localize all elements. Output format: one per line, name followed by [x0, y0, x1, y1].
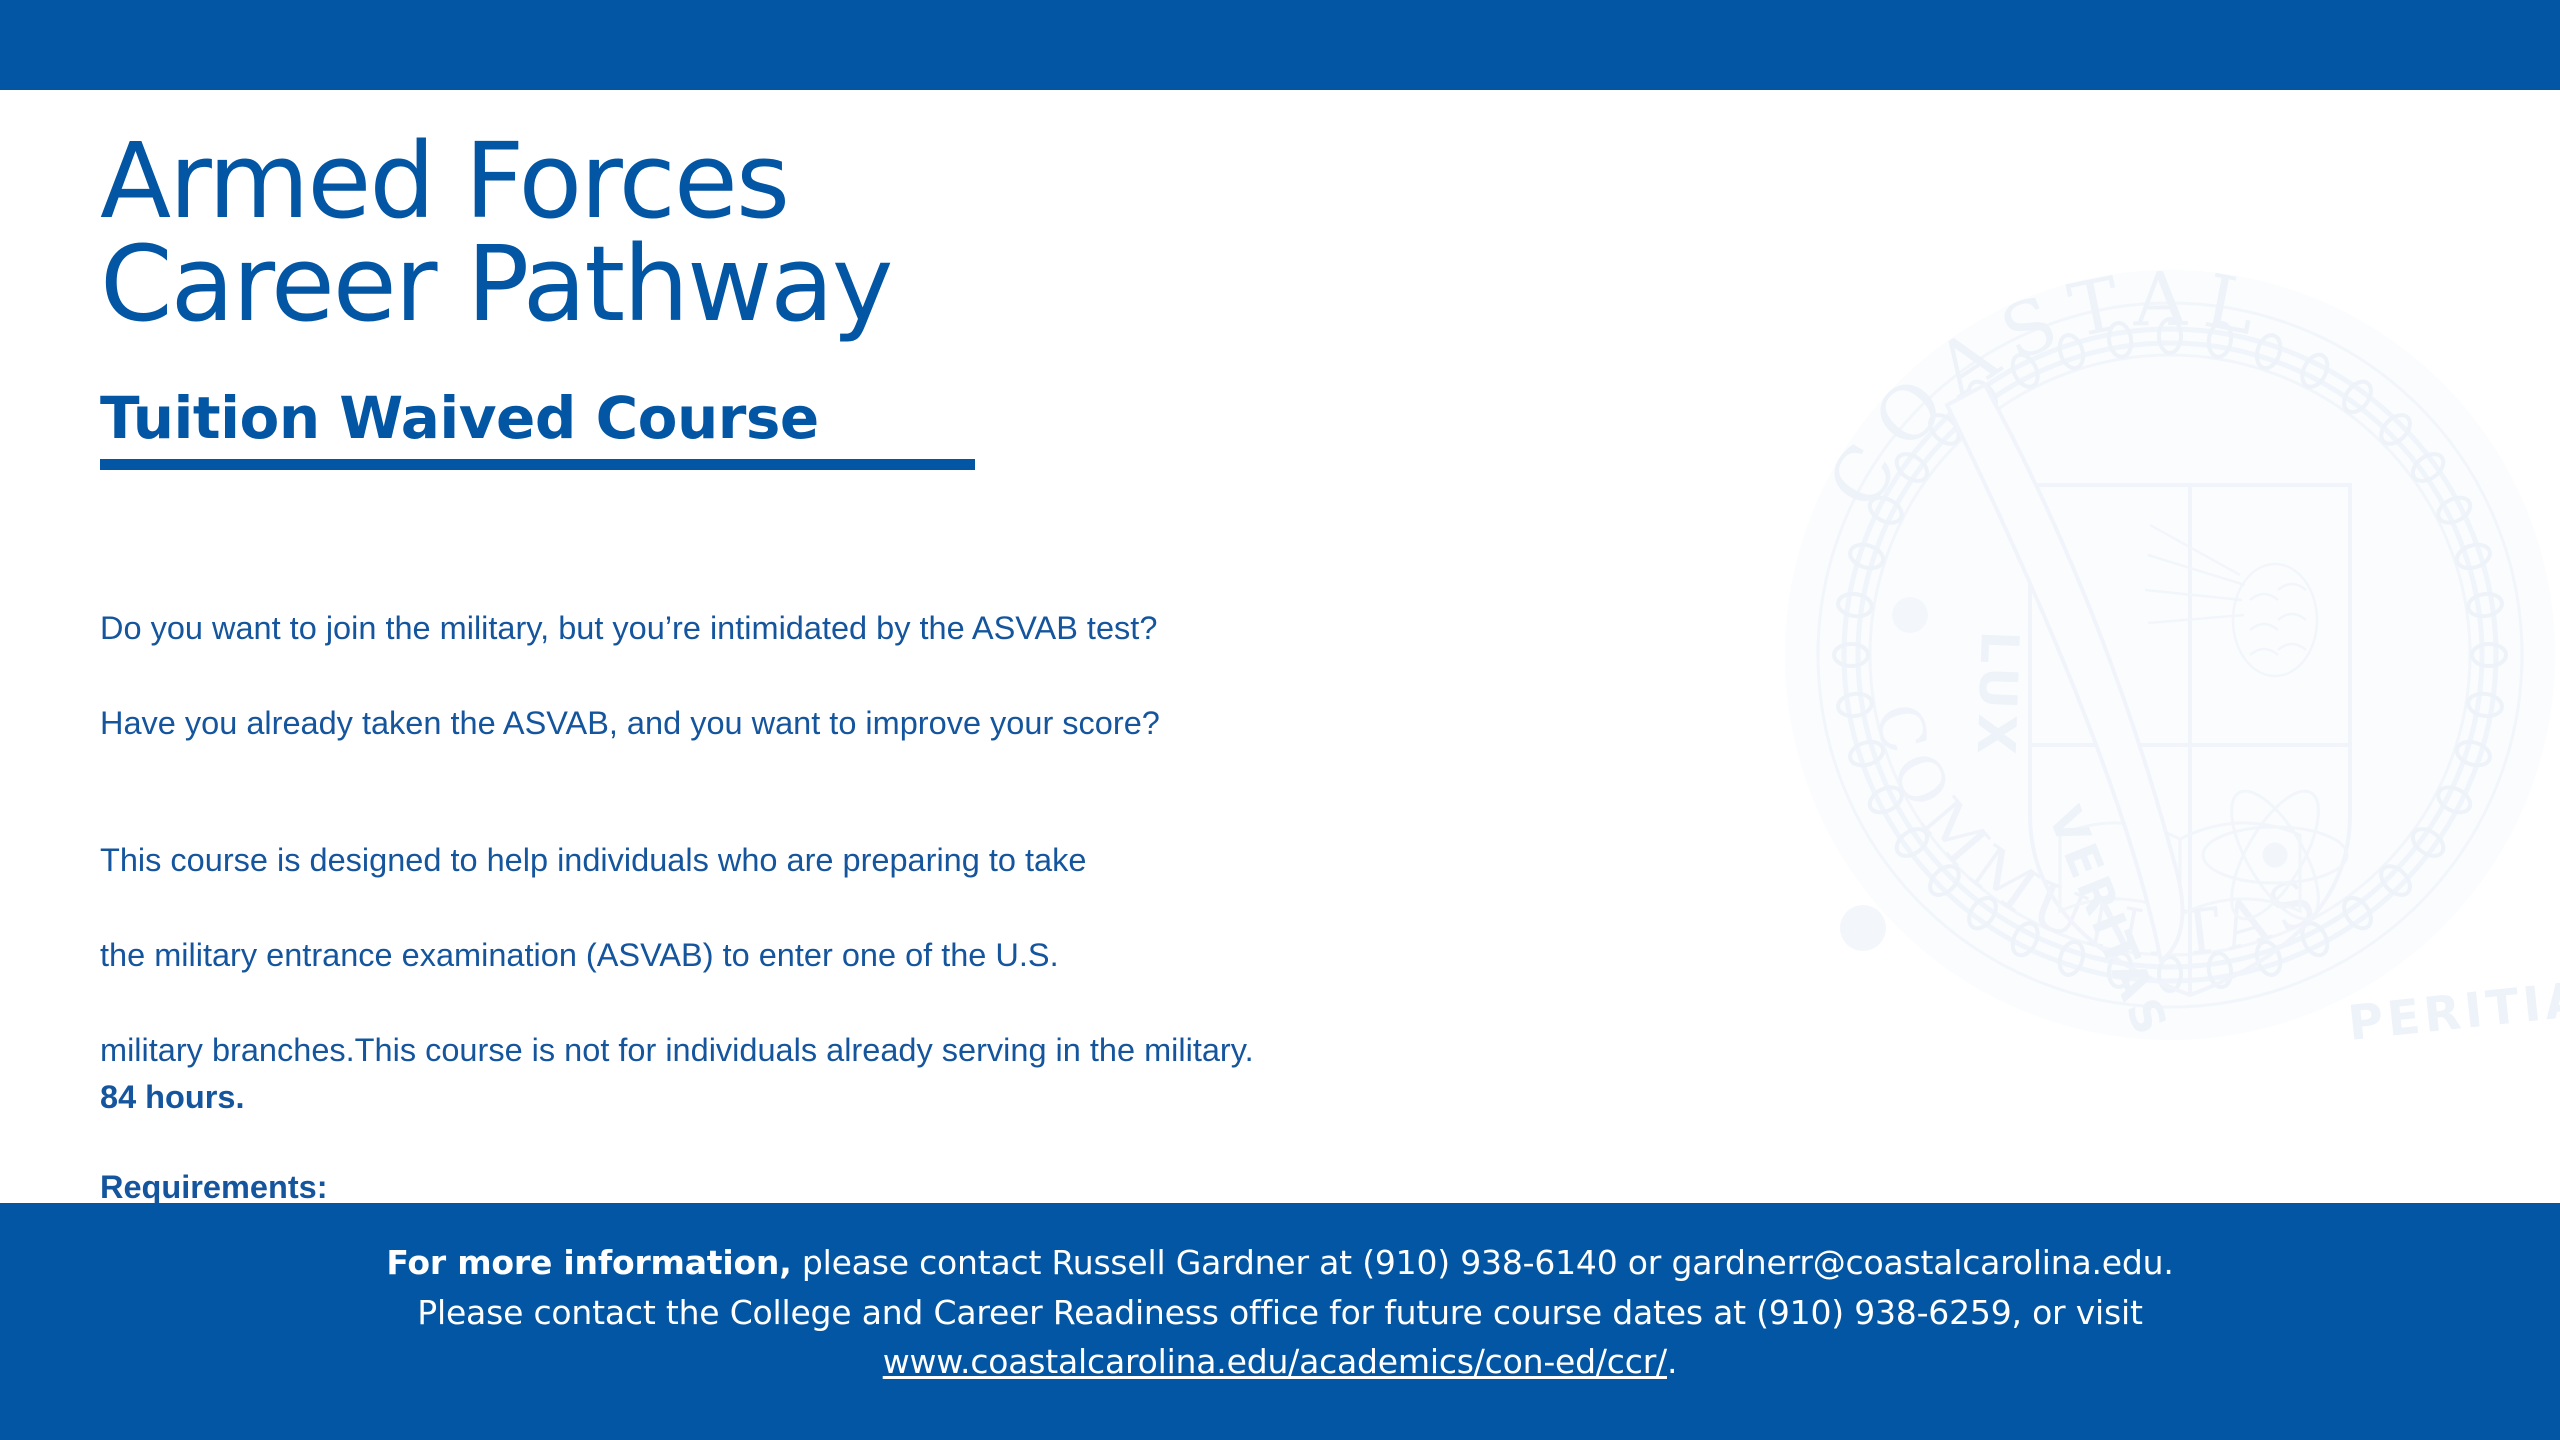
intro-line-1: Do you want to join the military, but yo… [100, 610, 1157, 646]
description-paragraph: This course is designed to help individu… [100, 790, 1800, 1122]
seal-motto-lux: LUX [1965, 630, 2029, 761]
footer-contact-block: For more information, please contact Rus… [0, 1238, 2560, 1387]
footer-line-3: www.coastalcarolina.edu/academics/con-ed… [0, 1337, 2560, 1387]
footer-line-1: For more information, please contact Rus… [0, 1238, 2560, 1288]
coastal-carolina-seal-watermark: COASTAL COMMUNITAS [1730, 55, 2560, 1195]
seal-ribbon [1947, 385, 2182, 961]
page-title: Armed ForcesCareer Pathway [100, 130, 1800, 336]
intro-line-2: Have you already taken the ASVAB, and yo… [100, 705, 1160, 741]
subtitle-underline-rule [100, 459, 975, 470]
pine-cone-icon [2145, 525, 2317, 676]
footer-line-2: Please contact the College and Career Re… [0, 1288, 2560, 1338]
footer-website-link[interactable]: www.coastalcarolina.edu/academics/con-ed… [883, 1342, 1667, 1381]
seal-top-text: COASTAL [1812, 257, 2277, 523]
atom-icon [2203, 779, 2347, 932]
footer-line-3-period: . [1667, 1342, 1677, 1381]
description-line-2: the military entrance examination (ASVAB… [100, 937, 1059, 973]
description-line-1: This course is designed to help individu… [100, 842, 1086, 878]
footer-line-1-rest: please contact Russell Gardner at (910) … [792, 1243, 2174, 1282]
seal-bottom-text: COMMUNITAS [1860, 695, 2336, 970]
course-hours: 84 hours. [100, 1079, 245, 1115]
subtitle-group: Tuition Waived Course [100, 388, 975, 470]
open-book-icon [2060, 823, 2300, 915]
top-brand-bar [0, 0, 2560, 90]
seal-motto-veritas: VERITAS [2038, 799, 2180, 1046]
footer-line-1-strong: For more information, [386, 1243, 791, 1282]
description-line-3: military branches.This course is not for… [100, 1032, 1254, 1068]
seal-motto-peritia: PERITIA [2345, 971, 2560, 1052]
poster-canvas: COASTAL COMMUNITAS [0, 0, 2560, 1440]
main-content: Armed ForcesCareer Pathway Tuition Waive… [100, 130, 1800, 1370]
intro-paragraph: Do you want to join the military, but yo… [100, 558, 1800, 748]
title-line-2: Career Pathway [100, 223, 891, 345]
subtitle: Tuition Waived Course [100, 388, 975, 449]
